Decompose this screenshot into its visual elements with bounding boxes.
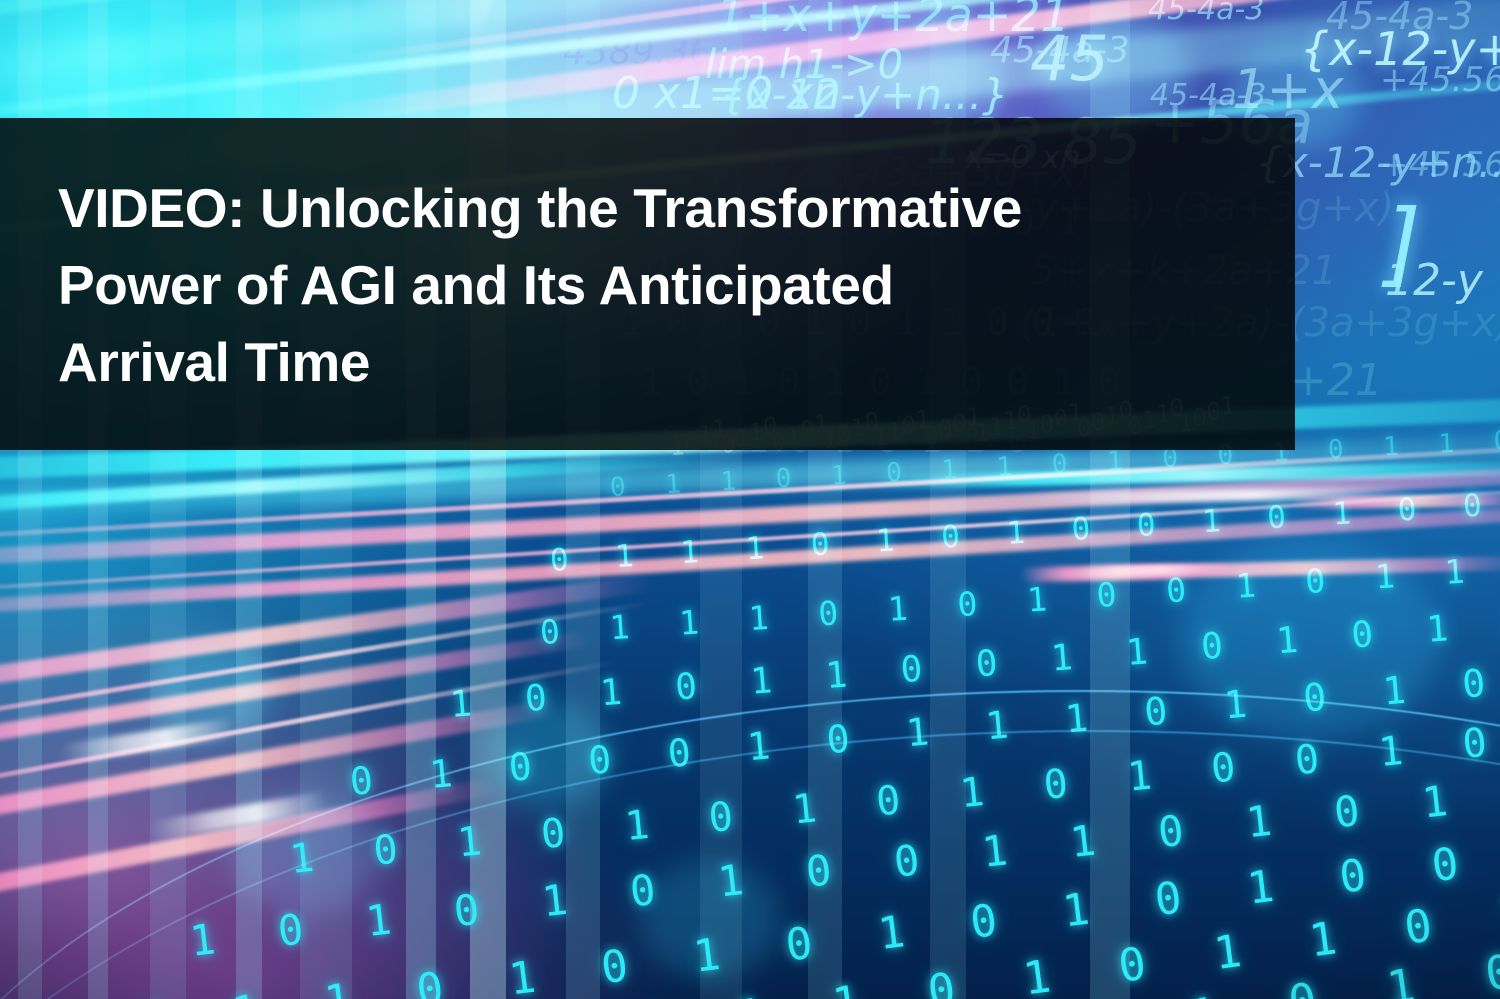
page-title: VIDEO: Unlocking the Transformative Powe… [58,170,1238,401]
title-overlay-panel: VIDEO: Unlocking the Transformative Powe… [0,118,1295,450]
title-line-3: Arrival Time [58,324,1238,401]
thumbnail-canvas: 1+x+y+2a+21 lim h1->0 0 x1=0 xn {x-12-y+… [0,0,1500,999]
title-line-2: Power of AGI and Its Anticipated [58,247,1238,324]
title-line-1: VIDEO: Unlocking the Transformative [58,170,1238,247]
